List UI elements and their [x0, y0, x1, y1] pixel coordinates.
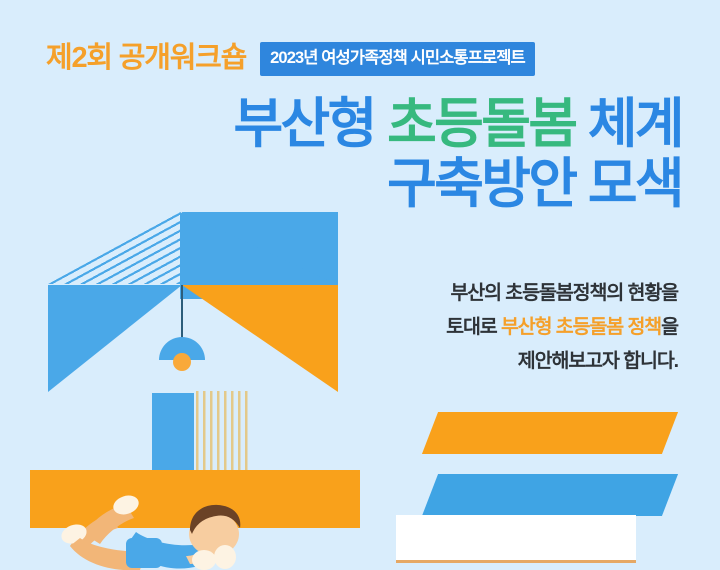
- page-title: 부산형 초등돌봄 체계 구축방안 모색: [233, 98, 682, 211]
- headline-line-1: 부산형 초등돌봄 체계: [233, 98, 682, 151]
- body-copy-line-1: 부산의 초등돌봄정책의 현황을: [348, 277, 678, 311]
- headline-part-system: 체계: [588, 94, 682, 154]
- body-copy-line-3: 제안해보고자 합니다.: [348, 345, 678, 379]
- body-copy-accent: 부산형 초등돌봄 정책: [501, 316, 661, 338]
- body-copy-line-2: 토대로 부산형 초등돌봄 정책을: [348, 311, 678, 345]
- poster-canvas: 제2회 공개워크숍 2023년 여성가족정책 시민소통프로젝트 부산형 초등돌봄…: [0, 0, 720, 570]
- headline-part-busan: 부산형: [233, 94, 374, 154]
- body-copy-line-2-suffix: 을: [661, 316, 678, 338]
- headline-line-2: 구축방안 모색: [233, 158, 682, 211]
- workshop-kicker: 제2회 공개워크숍: [46, 44, 246, 73]
- headline-part-care: 초등돌봄: [387, 94, 575, 154]
- text-layer: 제2회 공개워크숍 2023년 여성가족정책 시민소통프로젝트 부산형 초등돌봄…: [0, 0, 720, 570]
- eyebrow-row: 제2회 공개워크숍 2023년 여성가족정책 시민소통프로젝트: [46, 42, 535, 76]
- body-copy-line-2-prefix: 토대로: [446, 316, 501, 338]
- body-copy: 부산의 초등돌봄정책의 현황을 토대로 부산형 초등돌봄 정책을 제안해보고자 …: [348, 277, 678, 379]
- project-badge: 2023년 여성가족정책 시민소통프로젝트: [260, 42, 535, 76]
